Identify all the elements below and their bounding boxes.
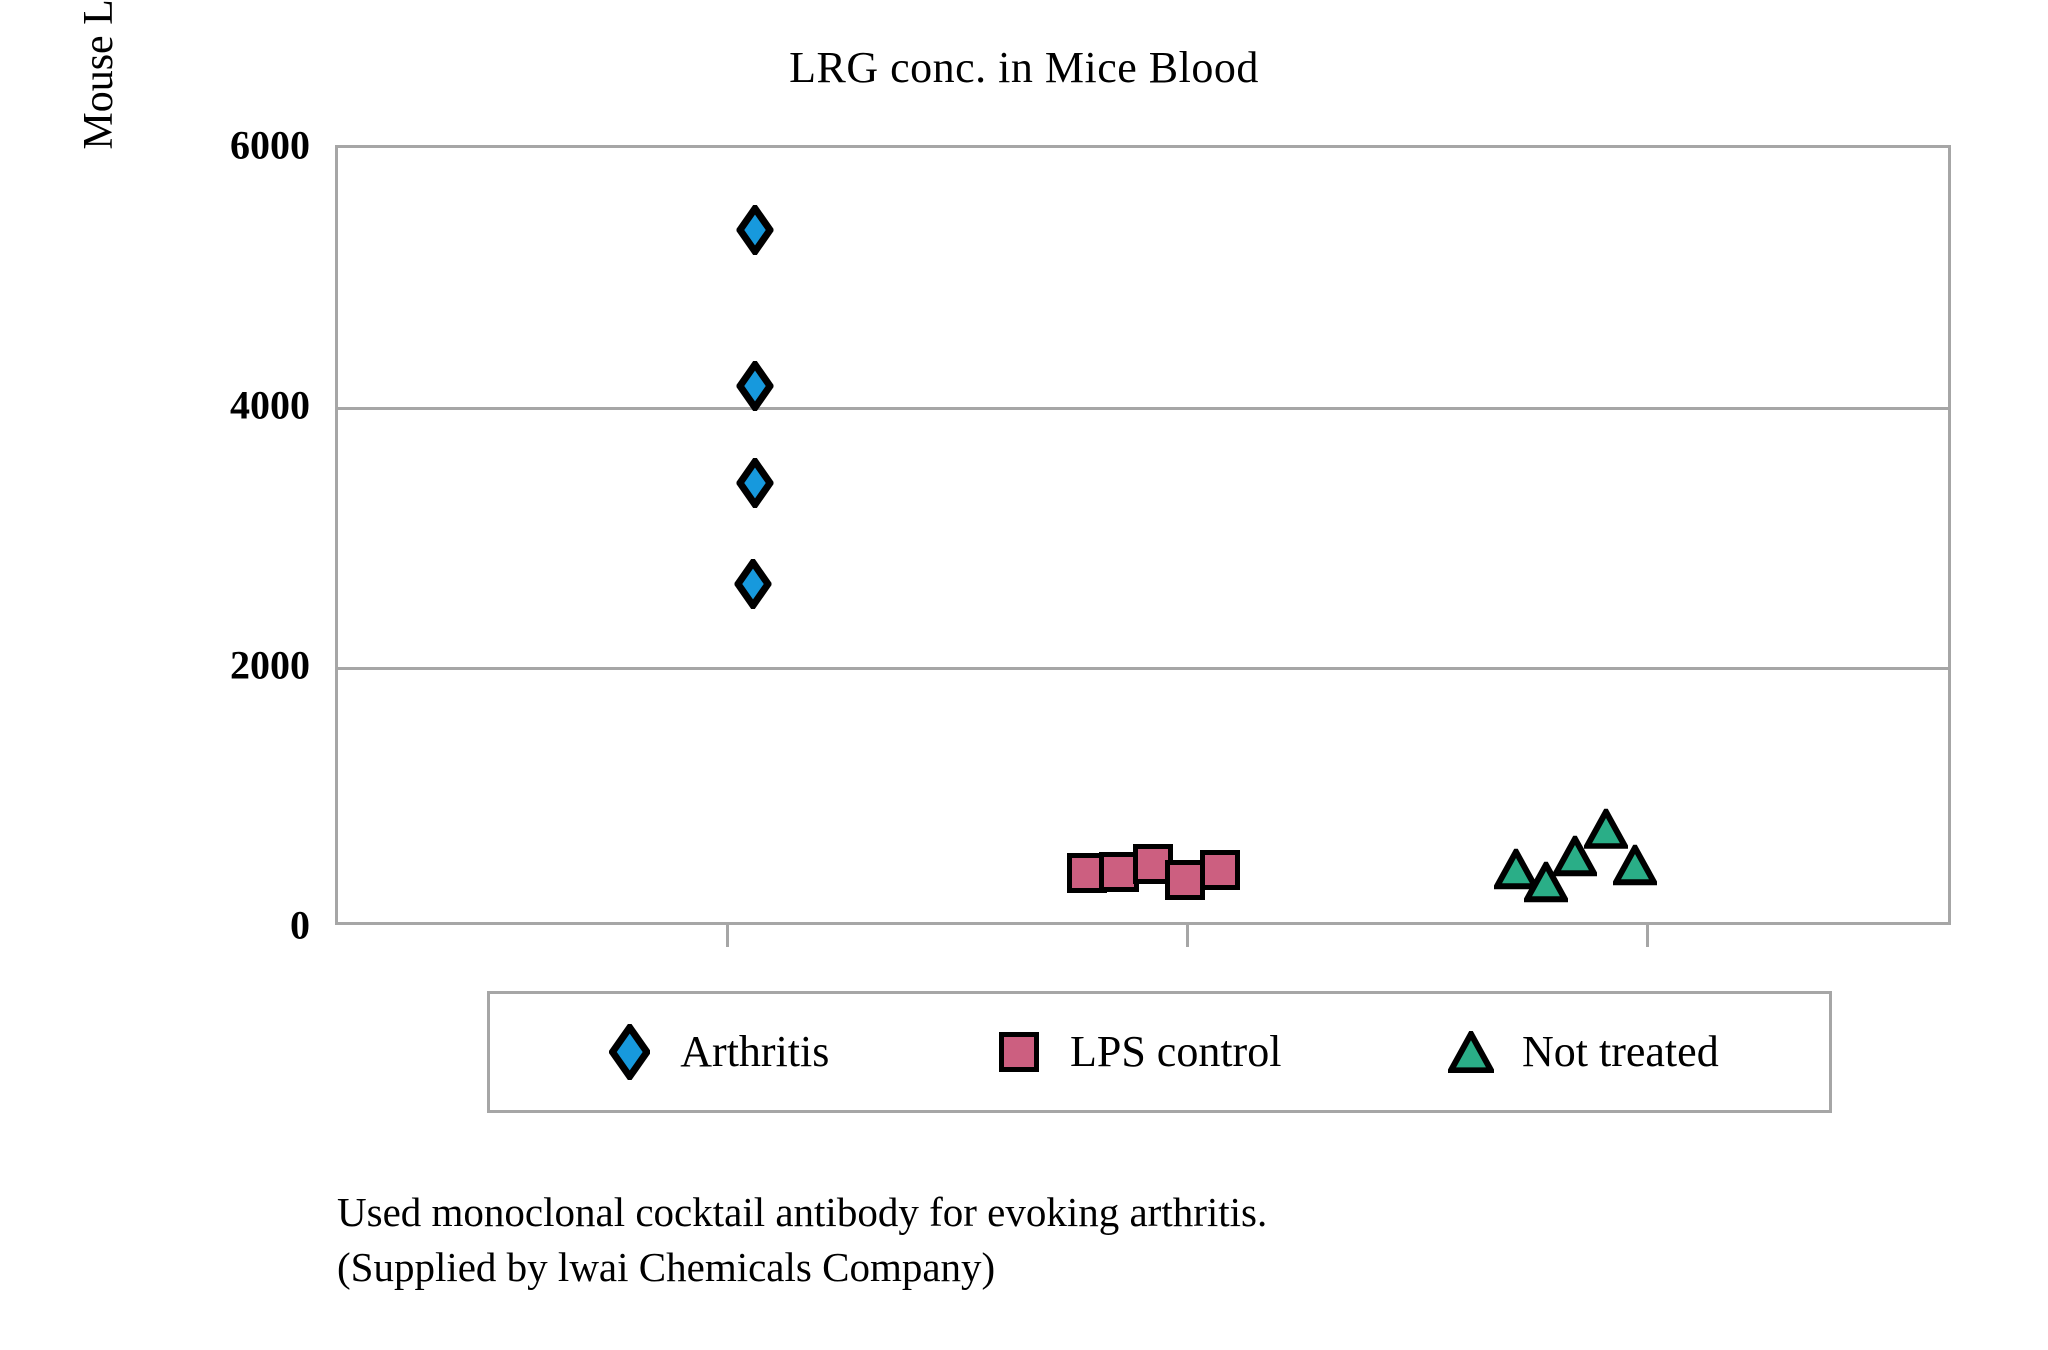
legend-item-arthritis[interactable]: Arthritis [600,1023,829,1081]
diamond-icon [600,1023,658,1081]
data-point-diamond [737,361,774,411]
plot-area [335,145,1951,925]
data-point-triangle [1584,809,1628,849]
legend-item-label: Arthritis [680,1030,829,1074]
data-point-diamond [735,559,772,609]
y-axis-tick-label: 0 [110,902,310,949]
caption-line: (Supplied by lwai Chemicals Company) [337,1240,1737,1295]
x-axis-tick [1646,925,1649,947]
y-axis-tick-label: 2000 [110,642,310,689]
y-axis-tick-label: 6000 [110,122,310,169]
chart-legend: ArthritisLPS controlNot treated [487,991,1832,1113]
data-point-square [1200,850,1240,890]
data-point-diamond [737,205,774,255]
x-axis-tick [1186,925,1189,947]
data-point-diamond [737,458,774,508]
legend-item-label: Not treated [1522,1030,1719,1074]
square-icon [990,1023,1048,1081]
gridline [338,667,1948,670]
legend-item-lps-control[interactable]: LPS control [990,1023,1281,1081]
legend-item-not-treated[interactable]: Not treated [1442,1023,1719,1081]
chart-figure: LRG conc. in Mice Blood Mouse LRG (ng/mL… [0,0,2048,1350]
legend-item-label: LPS control [1070,1030,1281,1074]
caption-line: Used monoclonal cocktail antibody for ev… [337,1185,1737,1240]
gridline [338,407,1948,410]
y-axis-tick-label: 4000 [110,382,310,429]
x-axis-tick [726,925,729,947]
figure-caption: Used monoclonal cocktail antibody for ev… [337,1185,1737,1294]
triangle-icon [1442,1023,1500,1081]
data-point-triangle [1613,845,1657,885]
data-point-square [1165,860,1205,900]
y-axis-tick-labels: 6000400020000 [110,0,310,1350]
